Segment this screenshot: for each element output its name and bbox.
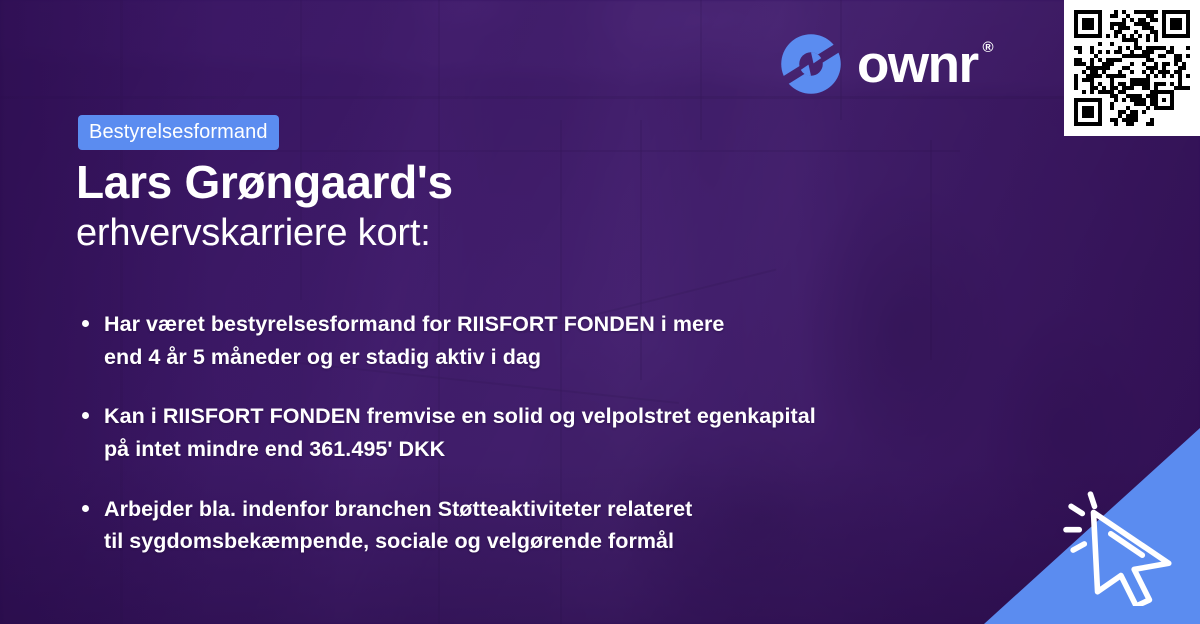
role-badge: Bestyrelsesformand xyxy=(78,115,279,150)
career-highlights-list: Har været bestyrelsesformand for RIISFOR… xyxy=(78,308,978,558)
list-item-line-2: til sygdomsbekæmpende, sociale og velgør… xyxy=(104,529,674,553)
brand-wordmark: ownr ® xyxy=(857,38,994,91)
page-title: Lars Grøngaard's erhvervskarriere kort: xyxy=(76,155,836,259)
brand-logo[interactable]: ownr ® xyxy=(780,33,994,95)
brand-wordmark-text: ownr xyxy=(857,35,978,94)
list-item-line-2: end 4 år 5 måneder og er stadig aktiv i … xyxy=(104,345,541,369)
list-item-line-2: på intet mindre end 361.495' DKK xyxy=(104,437,445,461)
list-item-line-1: Kan i RIISFORT FONDEN fremvise en solid … xyxy=(104,404,816,428)
list-item: Kan i RIISFORT FONDEN fremvise en solid … xyxy=(78,400,978,465)
qr-code[interactable] xyxy=(1074,10,1190,126)
list-item-line-1: Har været bestyrelsesformand for RIISFOR… xyxy=(104,312,724,336)
qr-code-panel[interactable] xyxy=(1064,0,1200,136)
bullet-dot-icon xyxy=(82,412,89,419)
click-cursor-icon xyxy=(1062,486,1186,606)
title-line-1: Lars Grøngaard's xyxy=(76,155,836,209)
list-item-line-1: Arbejder bla. indenfor branchen Støtteak… xyxy=(104,497,692,521)
registered-trademark-icon: ® xyxy=(983,40,994,55)
bullet-dot-icon xyxy=(82,505,89,512)
career-card: ownr ® Bestyrelsesformand Lars Grøngaard… xyxy=(0,0,1200,624)
list-item: Arbejder bla. indenfor branchen Støtteak… xyxy=(78,493,978,558)
bullet-dot-icon xyxy=(82,320,89,327)
list-item: Har været bestyrelsesformand for RIISFOR… xyxy=(78,308,978,373)
title-line-2: erhvervskarriere kort: xyxy=(76,209,836,258)
ownr-swirl-icon xyxy=(780,33,842,95)
